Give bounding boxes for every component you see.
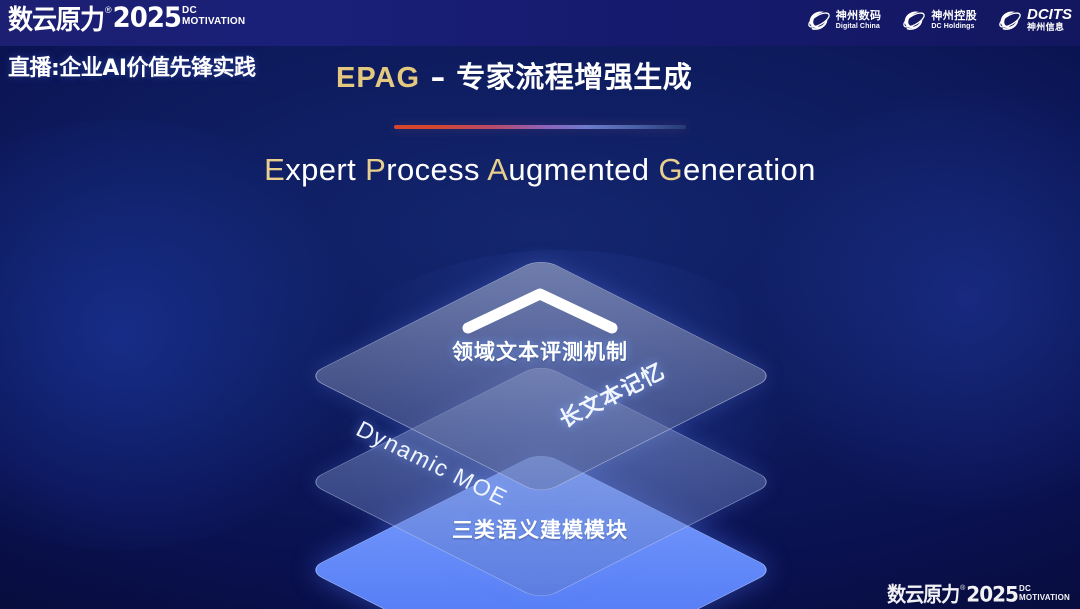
swirl-icon bbox=[806, 7, 832, 33]
subtitle-word-augmented: ugmented bbox=[508, 152, 658, 187]
partner-logo-digital-china: 神州数码 Digital China bbox=[806, 7, 882, 33]
subtitle-word-expert: xpert bbox=[285, 152, 365, 187]
partner-name-en: 神州信息 bbox=[1027, 24, 1072, 33]
brand-logo-cn: 数云原力 bbox=[8, 5, 104, 35]
subtitle-cap-p: P bbox=[365, 152, 386, 187]
subtitle-cap-g: G bbox=[658, 152, 683, 187]
watermark-dc: DC bbox=[1019, 585, 1070, 593]
live-stream-label: 直播:企业AI价值先锋实践 bbox=[8, 50, 256, 82]
brand-logo: 数云原力 ® 2025 DC MOTIVATION bbox=[8, 5, 245, 33]
subtitle-cap-e: E bbox=[264, 152, 285, 187]
partner-logo-dc-holdings: 神州控股 DC Holdings bbox=[901, 7, 977, 33]
swirl-icon bbox=[901, 7, 927, 33]
layer-stack-diagram: 领域文本评测机制 Dynamic MOE 长文本记忆 三类语义建模模块 bbox=[0, 228, 1080, 568]
brand-logo-year: 2025 bbox=[113, 4, 181, 32]
subtitle-cap-a: A bbox=[487, 152, 508, 187]
watermark-dc-motivation: DC MOTIVATION bbox=[1019, 585, 1070, 602]
page-title: EPAG – 专家流程增强生成 bbox=[336, 54, 692, 96]
title-divider bbox=[394, 125, 686, 129]
watermark-motivation: MOTIVATION bbox=[1019, 593, 1070, 602]
partner-logo-dcits: DCITS 神州信息 bbox=[997, 7, 1072, 33]
watermark-year: 2025 bbox=[966, 583, 1018, 605]
page-title-chinese: – 专家流程增强生成 bbox=[420, 60, 692, 94]
brand-logo-motivation: MOTIVATION bbox=[182, 16, 245, 27]
watermark-cn: 数云原力 bbox=[887, 584, 959, 607]
page-title-acronym: EPAG bbox=[336, 62, 420, 94]
brand-logo-dc: DC bbox=[182, 6, 245, 16]
subtitle-word-generation: eneration bbox=[683, 152, 816, 187]
swirl-icon bbox=[997, 7, 1023, 33]
bottom-watermark-logo: 数云原力 ® 2025 DC MOTIVATION bbox=[887, 584, 1070, 605]
diagram-layer-top-label: 领域文本评测机制 bbox=[0, 336, 1080, 366]
partner-name-cn: 神州数码 bbox=[836, 10, 882, 21]
partner-logo-text: DCITS 神州信息 bbox=[1027, 7, 1072, 33]
partner-name-cn: DCITS bbox=[1027, 7, 1072, 22]
slide-canvas: 数云原力 ® 2025 DC MOTIVATION 神州数码 Digital C… bbox=[0, 0, 1080, 609]
partner-logo-text: 神州控股 DC Holdings bbox=[931, 10, 977, 30]
subtitle-word-process: rocess bbox=[386, 152, 487, 187]
brand-logo-registered-mark: ® bbox=[105, 5, 112, 16]
partner-name-en: Digital China bbox=[836, 23, 882, 30]
partner-name-cn: 神州控股 bbox=[931, 10, 977, 21]
partner-logo-group: 神州数码 Digital China 神州控股 DC Holdings bbox=[806, 7, 1072, 33]
watermark-registered-mark: ® bbox=[960, 584, 965, 593]
partner-logo-text: 神州数码 Digital China bbox=[836, 10, 882, 30]
brand-logo-dc-motivation: DC MOTIVATION bbox=[182, 6, 245, 27]
diagram-layer-bottom-label: 三类语义建模模块 bbox=[0, 514, 1080, 544]
top-banner: 数云原力 ® 2025 DC MOTIVATION 神州数码 Digital C… bbox=[0, 0, 1080, 46]
partner-name-en: DC Holdings bbox=[931, 23, 977, 30]
page-subtitle: Expert Process Augmented Generation bbox=[0, 152, 1080, 188]
chevron-up-icon bbox=[460, 284, 620, 336]
